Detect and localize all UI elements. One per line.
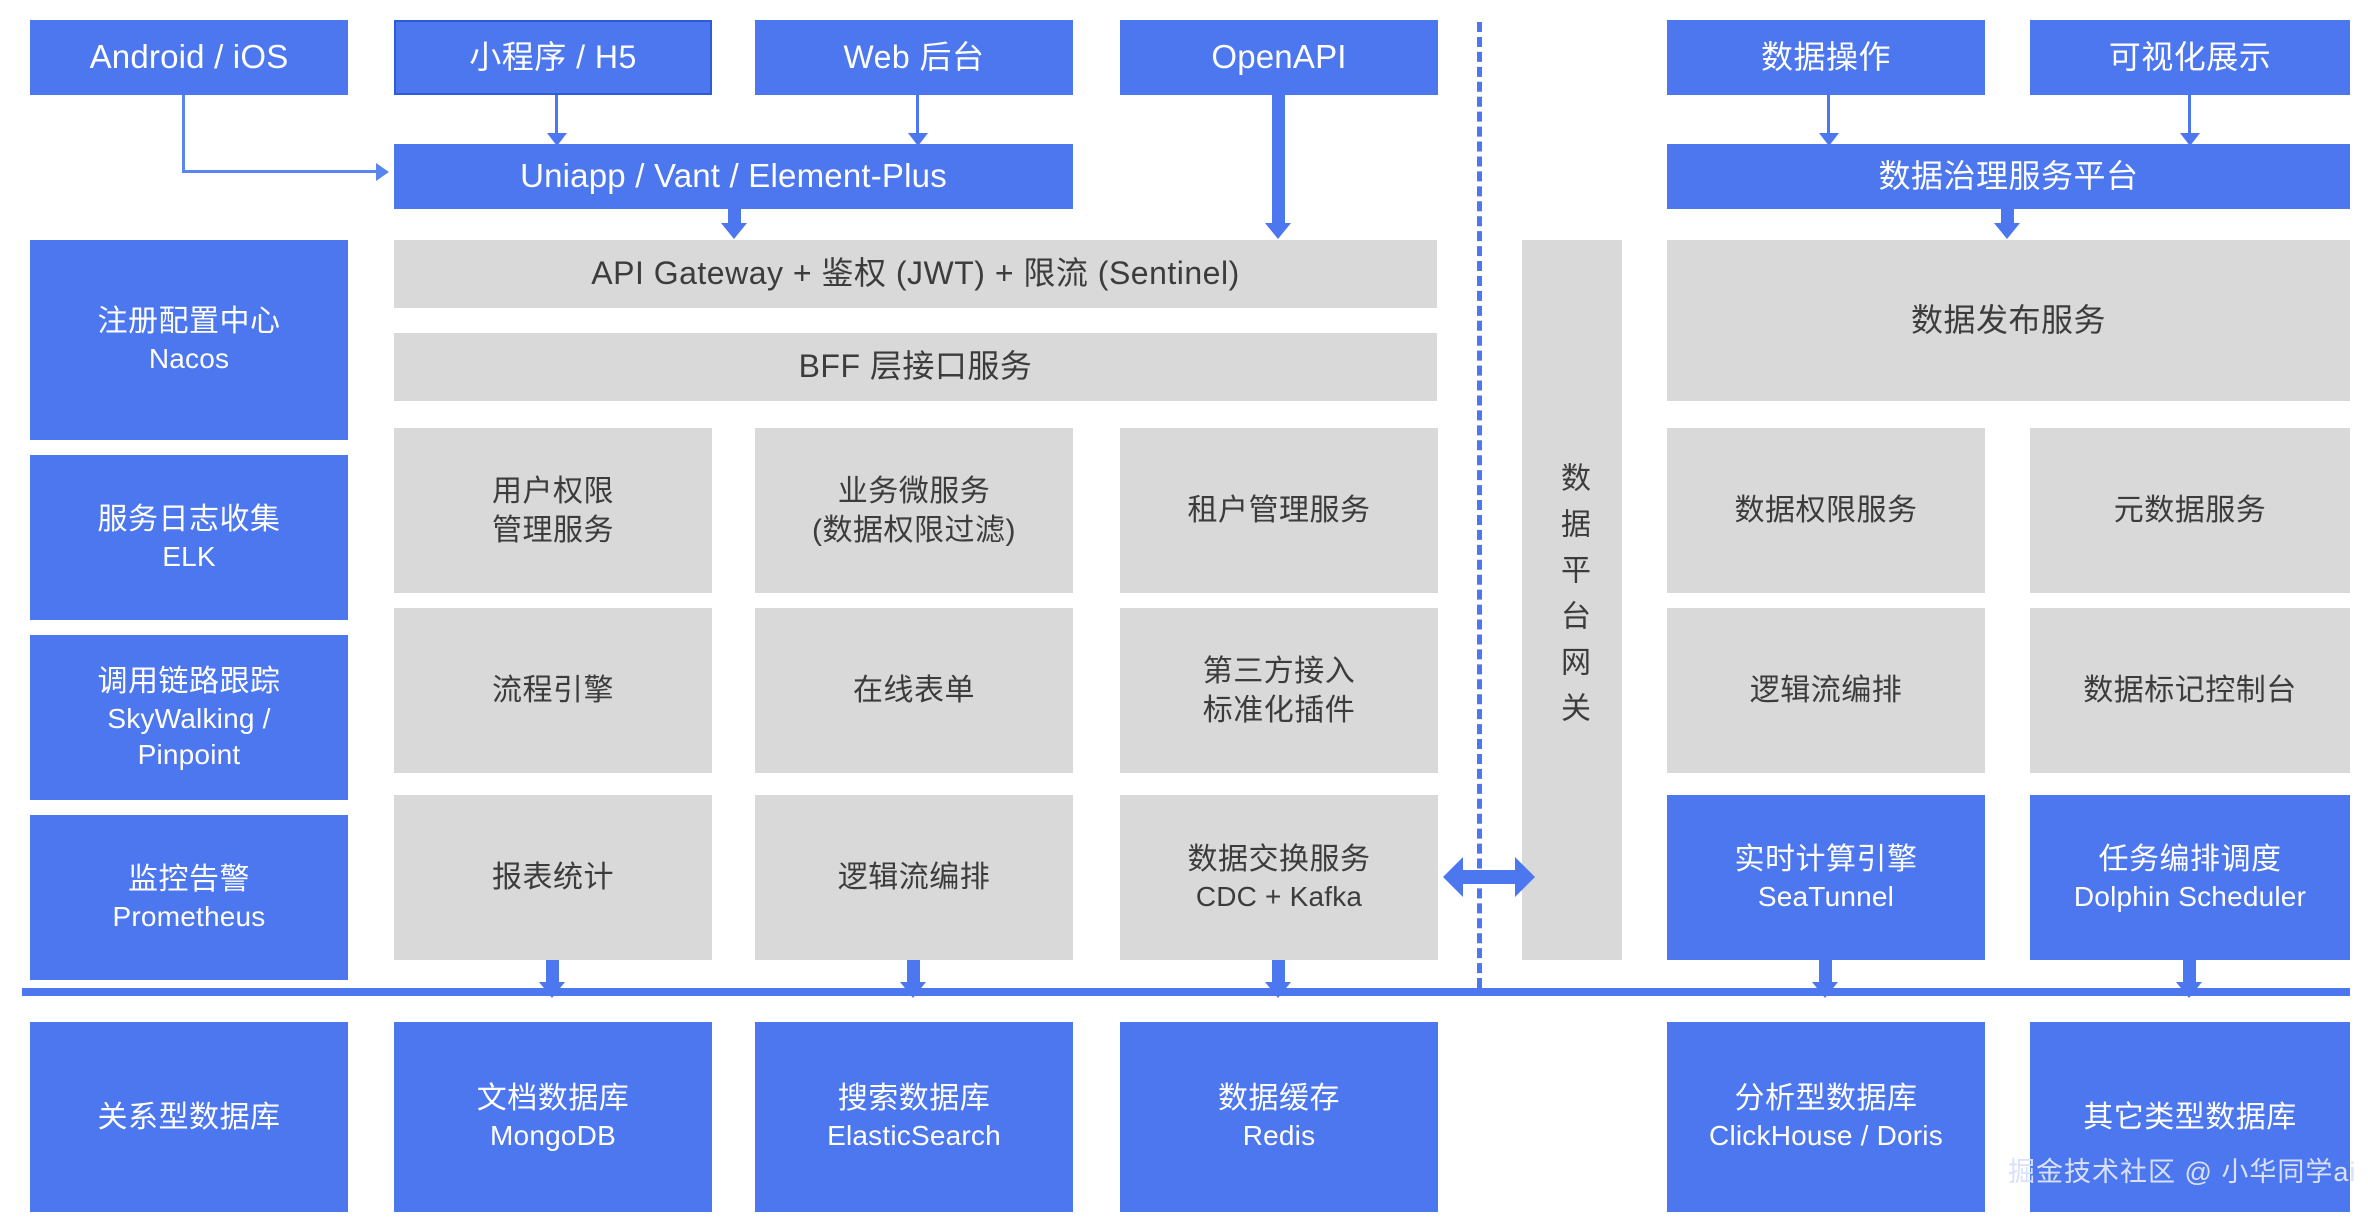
service-label-process-engine-l1: 流程引擎 [492,671,614,710]
storage-label-document-db-en: MongoDB [490,1118,616,1154]
data-label-data-tagging-console: 数据标记控制台 [2083,671,2297,710]
api-gateway-box[interactable]: API Gateway + 鉴权 (JWT) + 限流 (Sentinel) [394,240,1437,308]
storage-box-search-db[interactable]: 搜索数据库 ElasticSearch [755,1022,1073,1212]
data-box-data-permission-service[interactable]: 数据权限服务 [1667,428,1985,593]
architecture-diagram: Android / iOS 小程序 / H5 Web 后台 OpenAPI 数据… [0,0,2368,1230]
service-label-business-microservice-l2: (数据权限过滤) [812,511,1016,550]
client-label-android-ios: Android / iOS [90,36,289,79]
infra-label-tracing-cn: 调用链路跟踪 [98,662,281,701]
data-label-metadata-service: 元数据服务 [2114,491,2267,530]
data-label-realtime-compute-engine-en: SeaTunnel [1758,879,1894,915]
client-box-openapi[interactable]: OpenAPI [1120,20,1438,95]
vertical-dashed-separator [1477,22,1482,988]
governance-platform-box[interactable]: 数据治理服务平台 [1667,144,2350,209]
service-label-data-exchange-l1: 数据交换服务 [1188,840,1371,879]
infra-label-tracing-en2: Pinpoint [138,737,241,773]
infra-label-elk-en: ELK [162,539,216,575]
service-label-business-microservice-l1: 业务微服务 [838,472,991,511]
data-box-realtime-compute-engine[interactable]: 实时计算引擎 SeaTunnel [1667,795,1985,960]
bff-box[interactable]: BFF 层接口服务 [394,333,1437,401]
infra-label-prometheus-cn: 监控告警 [128,860,250,899]
service-box-user-permission[interactable]: 用户权限 管理服务 [394,428,712,593]
service-label-tenant-management-l1: 租户管理服务 [1188,491,1371,530]
service-box-data-exchange[interactable]: 数据交换服务 CDC + Kafka [1120,795,1438,960]
data-box-data-tagging-console[interactable]: 数据标记控制台 [2030,608,2350,773]
data-box-visualization[interactable]: 可视化展示 [2030,20,2350,95]
service-label-thirdparty-plugin-l1: 第三方接入 [1203,652,1356,691]
infra-label-prometheus-en: Prometheus [113,899,266,935]
storage-label-cache-cn: 数据缓存 [1218,1079,1340,1118]
infra-label-elk-cn: 服务日志收集 [98,500,281,539]
infra-label-tracing-en: SkyWalking / [107,701,270,737]
service-box-online-form[interactable]: 在线表单 [755,608,1073,773]
storage-box-document-db[interactable]: 文档数据库 MongoDB [394,1022,712,1212]
data-label-task-scheduler-cn: 任务编排调度 [2099,840,2282,879]
service-label-logic-flow-l1: 逻辑流编排 [838,858,991,897]
storage-layer-separator [22,988,2350,996]
service-label-user-permission-l2: 管理服务 [492,511,614,550]
governance-platform-label: 数据治理服务平台 [1878,156,2138,198]
infra-box-tracing[interactable]: 调用链路跟踪 SkyWalking / Pinpoint [30,635,348,800]
data-label-logic-flow-orchestration: 逻辑流编排 [1750,671,1903,710]
data-label-data-permission-service: 数据权限服务 [1735,491,1918,530]
infra-box-nacos[interactable]: 注册配置中心 Nacos [30,240,348,440]
infra-label-nacos-en: Nacos [149,341,229,377]
storage-box-relational-db[interactable]: 关系型数据库 [30,1022,348,1212]
data-platform-gateway-label: 数据平台网关 [1557,462,1587,738]
storage-label-search-db-en: ElasticSearch [827,1118,1001,1154]
data-box-data-operation[interactable]: 数据操作 [1667,20,1985,95]
storage-label-analytical-db-en: ClickHouse / Doris [1709,1118,1943,1154]
bidirectional-arrow-services-to-data-platform [1443,857,1535,897]
storage-label-relational-db-cn: 关系型数据库 [98,1098,281,1137]
data-label-task-scheduler-en: Dolphin Scheduler [2074,879,2306,915]
client-box-miniprogram-h5[interactable]: 小程序 / H5 [394,20,712,95]
data-platform-gateway-box[interactable]: 数据平台网关 [1522,240,1622,960]
data-box-logic-flow-orchestration[interactable]: 逻辑流编排 [1667,608,1985,773]
client-label-openapi: OpenAPI [1211,36,1346,79]
frontend-framework-label: Uniapp / Vant / Element-Plus [520,155,947,198]
infra-label-nacos-cn: 注册配置中心 [98,302,281,341]
storage-label-document-db-cn: 文档数据库 [477,1079,630,1118]
client-label-web-admin: Web 后台 [843,37,984,79]
service-box-report-statistics[interactable]: 报表统计 [394,795,712,960]
connector-android-to-uniapp [182,95,397,185]
client-box-web-admin[interactable]: Web 后台 [755,20,1073,95]
watermark-text: 掘金技术社区 @ 小华同学ai [2008,1150,2356,1189]
client-label-miniprogram-h5: 小程序 / H5 [469,37,637,79]
service-label-report-statistics-l1: 报表统计 [492,858,614,897]
data-box-task-scheduler[interactable]: 任务编排调度 Dolphin Scheduler [2030,795,2350,960]
infra-box-elk[interactable]: 服务日志收集 ELK [30,455,348,620]
service-box-tenant-management[interactable]: 租户管理服务 [1120,428,1438,593]
client-box-android-ios[interactable]: Android / iOS [30,20,348,95]
data-label-visualization: 可视化展示 [2109,37,2272,79]
storage-label-cache-en: Redis [1243,1118,1316,1154]
storage-box-cache[interactable]: 数据缓存 Redis [1120,1022,1438,1212]
arrow-governance-to-publish [1993,209,2023,241]
data-label-realtime-compute-engine-cn: 实时计算引擎 [1735,840,1918,879]
storage-label-other-db-cn: 其它类型数据库 [2083,1098,2297,1137]
arrow-uniapp-to-api-gateway [720,209,750,241]
service-label-online-form-l1: 在线表单 [853,671,975,710]
arrow-data-operation-to-governance [1816,95,1842,147]
storage-label-search-db-cn: 搜索数据库 [838,1079,991,1118]
storage-box-analytical-db[interactable]: 分析型数据库 ClickHouse / Doris [1667,1022,1985,1212]
infra-box-prometheus[interactable]: 监控告警 Prometheus [30,815,348,980]
arrow-visualization-to-governance [2177,95,2203,147]
arrow-miniprogram-to-uniapp [544,95,570,147]
bff-label: BFF 层接口服务 [799,346,1033,388]
arrow-web-admin-to-uniapp [905,95,931,147]
service-box-logic-flow[interactable]: 逻辑流编排 [755,795,1073,960]
arrow-openapi-to-api-gateway [1264,95,1294,241]
service-label-thirdparty-plugin-l2: 标准化插件 [1203,691,1356,730]
service-box-thirdparty-plugin[interactable]: 第三方接入 标准化插件 [1120,608,1438,773]
storage-label-analytical-db-cn: 分析型数据库 [1735,1079,1918,1118]
frontend-framework-box[interactable]: Uniapp / Vant / Element-Plus [394,144,1073,209]
service-label-user-permission-l1: 用户权限 [492,472,614,511]
data-box-metadata-service[interactable]: 元数据服务 [2030,428,2350,593]
api-gateway-label: API Gateway + 鉴权 (JWT) + 限流 (Sentinel) [591,253,1240,295]
service-label-data-exchange-l2: CDC + Kafka [1196,879,1362,915]
service-box-business-microservice[interactable]: 业务微服务 (数据权限过滤) [755,428,1073,593]
data-label-data-operation: 数据操作 [1761,37,1891,79]
data-publish-service-label: 数据发布服务 [1911,300,2106,342]
service-box-process-engine[interactable]: 流程引擎 [394,608,712,773]
data-publish-service-box[interactable]: 数据发布服务 [1667,240,2350,401]
